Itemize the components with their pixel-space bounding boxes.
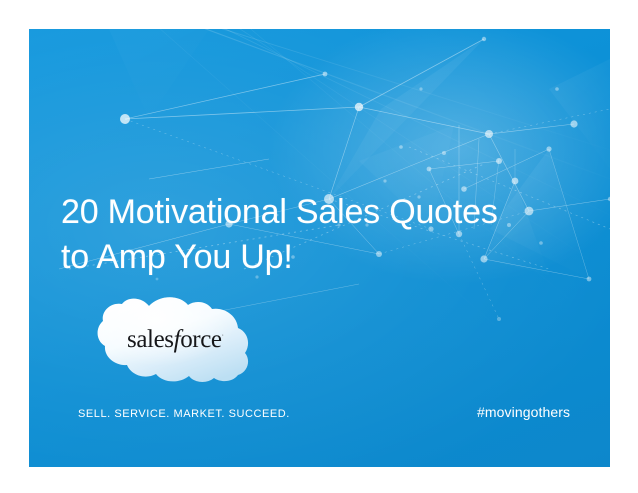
salesforce-logo: salesforce· [91, 293, 256, 385]
wordmark-sales: sales [127, 326, 174, 353]
trademark-mark: · [222, 331, 224, 339]
tagline: SELL. SERVICE. MARKET. SUCCEED. [78, 408, 290, 420]
wordmark-orce: orce [180, 326, 221, 353]
page-title: 20 Motivational Sales Quotes to Amp You … [61, 190, 581, 280]
presentation-slide: 20 Motivational Sales Quotes to Amp You … [29, 29, 610, 467]
slide-canvas: 20 Motivational Sales Quotes to Amp You … [0, 0, 638, 493]
wordmark-text: salesforce· [127, 327, 224, 352]
salesforce-wordmark: salesforce· [91, 293, 256, 385]
hashtag: #movingothers [477, 404, 570, 420]
